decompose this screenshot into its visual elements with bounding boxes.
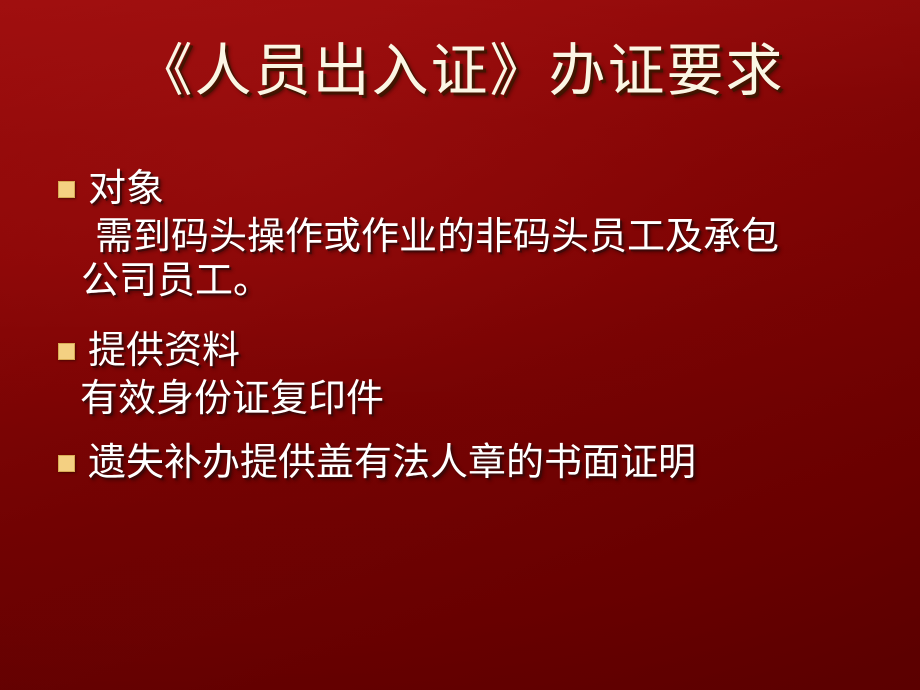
square-bullet-icon	[58, 181, 75, 198]
slide-title: 《人员出入证》办证要求	[0, 38, 920, 105]
square-bullet-icon	[58, 343, 75, 360]
bullet-subtext-2: 有效身份证复印件	[0, 376, 920, 420]
bullet-item-3: 遗失补办提供盖有法人章的书面证明	[0, 434, 920, 484]
subtext-line: 公司员工。	[81, 258, 875, 302]
bullet-heading-3: 遗失补办提供盖有法人章的书面证明	[88, 434, 920, 484]
subtext-line: 需到码头操作或作业的非码头员工及承包	[95, 214, 875, 258]
spacer	[0, 420, 920, 434]
bullet-item-1: 对象	[0, 160, 920, 210]
square-bullet-icon	[58, 455, 75, 472]
bullet-heading-2: 提供资料	[88, 322, 920, 372]
bullet-item-2: 提供资料	[0, 322, 920, 372]
presentation-slide: 《人员出入证》办证要求 对象 需到码头操作或作业的非码头员工及承包 公司员工。 …	[0, 0, 920, 690]
spacer	[0, 302, 920, 322]
slide-body: 对象 需到码头操作或作业的非码头员工及承包 公司员工。 提供资料 有效身份证复印…	[0, 160, 920, 484]
bullet-subtext-1: 需到码头操作或作业的非码头员工及承包 公司员工。	[0, 214, 920, 302]
subtext-line: 有效身份证复印件	[80, 376, 875, 420]
bullet-heading-1: 对象	[88, 160, 920, 210]
slide-content: 《人员出入证》办证要求 对象 需到码头操作或作业的非码头员工及承包 公司员工。 …	[0, 0, 920, 690]
